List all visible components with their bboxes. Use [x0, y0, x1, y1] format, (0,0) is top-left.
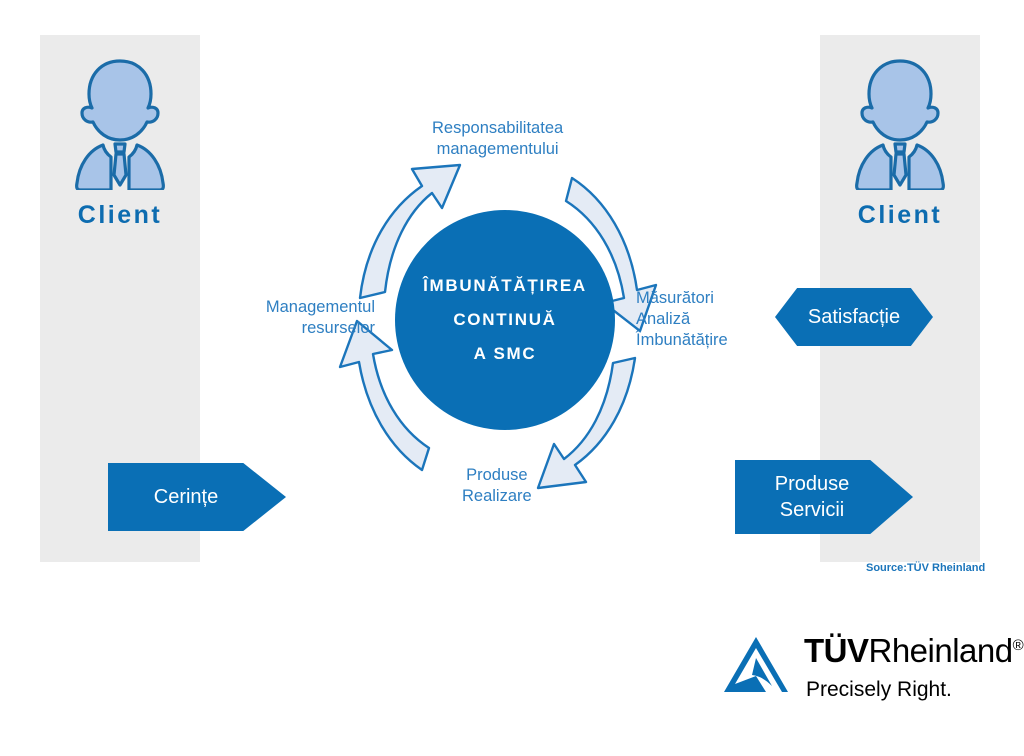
banner-satisfactie: Satisfacție: [775, 288, 933, 346]
logo-wordmark: TÜVRheinland®: [804, 632, 1023, 670]
banner-cerinte: Cerințe: [108, 463, 286, 531]
core-circle: ÎMBUNĂTĂȚIREA CONTINUĂ A SMC: [395, 210, 615, 430]
core-line-1: ÎMBUNĂTĂȚIREA: [423, 269, 587, 303]
source-note: Source:TÜV Rheinland: [866, 562, 985, 574]
cycle-label-left-line1: Managementul: [255, 297, 375, 318]
cycle-label-product-realization: Produse Realizare: [462, 465, 532, 507]
cycle-label-top-line1: Responsabilitatea: [432, 118, 563, 139]
cycle-label-left-line2: resurselor: [255, 318, 375, 339]
client-left-label: Client: [40, 201, 200, 230]
client-left-group: Client: [40, 55, 200, 230]
person-icon: [845, 55, 955, 190]
cycle-label-right-line2: Analiză: [636, 309, 728, 330]
core-line-2: CONTINUĂ: [453, 303, 556, 337]
registered-mark-icon: ®: [1013, 637, 1024, 654]
cycle-label-top-line2: managementului: [432, 139, 563, 160]
banner-satisfactie-label: Satisfacție: [785, 304, 923, 330]
banner-produse-line2: Servicii: [735, 497, 889, 523]
person-icon: [65, 55, 175, 190]
logo-tuv: TÜV: [804, 632, 869, 669]
core-line-3: A SMC: [474, 337, 537, 371]
cycle-label-management-responsibility: Responsabilitatea managementului: [432, 118, 563, 160]
cycle-label-right-line3: Îmbunătățire: [636, 330, 728, 351]
tuv-triangle-icon: [722, 636, 790, 694]
logo-tagline: Precisely Right.: [806, 678, 952, 702]
cycle-label-resource-management: Managementul resurselor: [255, 297, 375, 339]
cycle-label-bottom-line1: Produse: [462, 465, 532, 486]
cycle-label-measurement-analysis: Măsurători Analiză Îmbunătățire: [636, 288, 728, 351]
banner-cerinte-label: Cerințe: [108, 484, 264, 510]
banner-produse-line1: Produse: [735, 471, 889, 497]
diagram-canvas: Client Client ÎMBUNĂTĂȚIREA: [0, 0, 1024, 756]
cycle-label-bottom-line2: Realizare: [462, 486, 532, 507]
cycle-label-right-line1: Măsurători: [636, 288, 728, 309]
logo-rheinland: Rheinland: [869, 632, 1013, 669]
tuv-rheinland-logo: TÜVRheinland® Precisely Right.: [722, 632, 994, 712]
client-right-group: Client: [820, 55, 980, 230]
banner-produse-servicii-label: Produse Servicii: [735, 471, 889, 523]
client-right-label: Client: [820, 201, 980, 230]
